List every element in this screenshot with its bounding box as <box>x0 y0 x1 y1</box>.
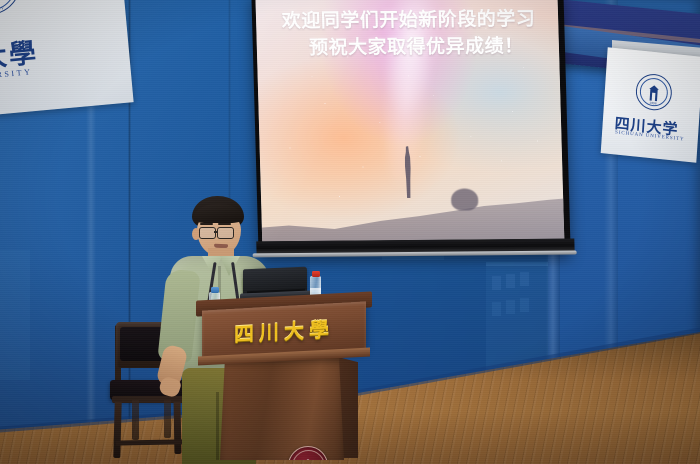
presentation-scene-photo: 1896 UNIVERSITY 川大學 UNIVERSITY 1896 四川大学… <box>0 0 700 464</box>
wall-banner-left: 1896 UNIVERSITY 川大學 UNIVERSITY <box>0 0 134 117</box>
lectern-body: 1896 SICHUAN UNIVERSITY <box>220 358 344 460</box>
sichuan-university-seal-icon: 1896 <box>635 72 673 112</box>
slide-line-2: 预祝大家取得优异成绩！ <box>275 33 545 62</box>
sichuan-university-emblem-icon: 1896 SICHUAN UNIVERSITY <box>288 446 328 464</box>
slide-line-1: 欢迎同学们开始新阶段的学习 <box>274 6 544 35</box>
eyeglasses-icon <box>199 227 216 239</box>
projection-screen: 欢迎同学们开始新阶段的学习 预祝大家取得优异成绩！ <box>251 0 570 255</box>
screen-surface: 欢迎同学们开始新阶段的学习 预祝大家取得优异成绩！ <box>255 0 564 241</box>
banner-left-english-name: UNIVERSITY <box>0 67 33 83</box>
slide-text-block: 欢迎同学们开始新阶段的学习 预祝大家取得优异成绩！ <box>274 6 544 62</box>
sichuan-university-seal-icon: 1896 UNIVERSITY <box>0 0 23 17</box>
lectern: 1896 SICHUAN UNIVERSITY 四川大學 <box>196 296 372 464</box>
seal-english-arc: UNIVERSITY <box>0 5 22 14</box>
bush-silhouette <box>451 188 479 210</box>
seal-year: 1896 <box>649 100 657 105</box>
wall-banner-right: 1896 四川大学 SICHUAN UNIVERSITY <box>601 47 700 162</box>
eyeglasses-icon <box>217 227 234 239</box>
